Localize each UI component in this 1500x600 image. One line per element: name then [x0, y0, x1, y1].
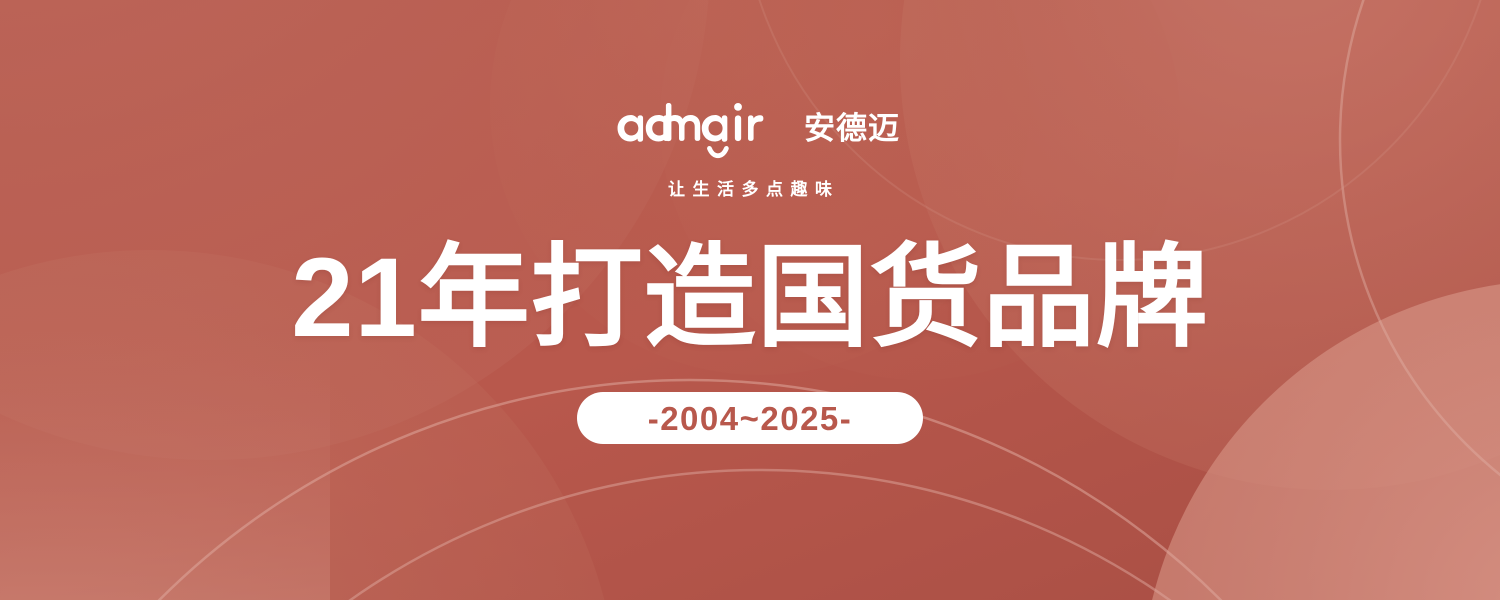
admair-wordmark: [600, 103, 790, 159]
date-range-badge: -2004~2025-: [577, 392, 923, 444]
brand-lockup: 安德迈: [600, 103, 900, 159]
headline: 21年打造国货品牌: [291, 242, 1209, 354]
promo-banner: 安德迈 让生活多点趣味 21年打造国货品牌 -2004~2025-: [0, 0, 1500, 600]
brand-tagline: 让生活多点趣味: [661, 181, 840, 198]
banner-content: 安德迈 让生活多点趣味 21年打造国货品牌 -2004~2025-: [0, 0, 1500, 600]
admair-wordmark-icon: [600, 103, 790, 159]
brand-cn-name: 安德迈: [804, 113, 900, 144]
